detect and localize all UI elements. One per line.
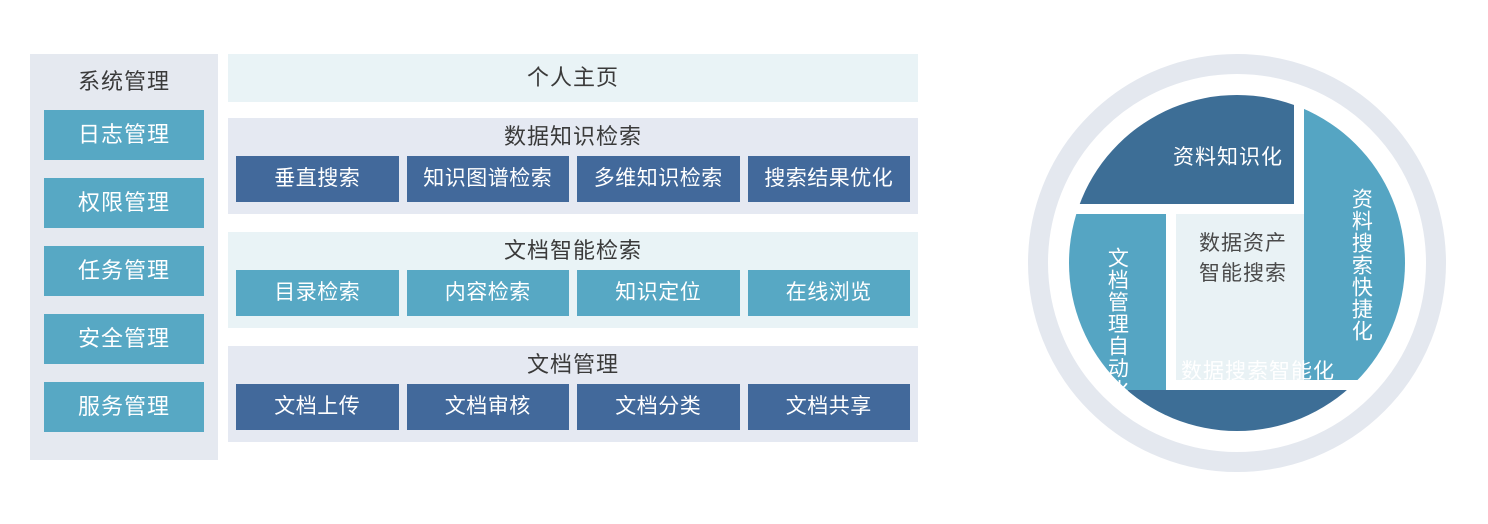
- sidebar-item-permission-management[interactable]: 权限管理: [44, 178, 204, 228]
- sidebar-item-task-management[interactable]: 任务管理: [44, 246, 204, 296]
- segment-top[interactable]: [1064, 74, 1294, 204]
- circular-architecture-diagram: 资料知识化 资料搜索快捷化 文档管理自动化 数据搜索智能化 数据资产 智能搜索: [1028, 54, 1446, 472]
- panel-title-data-knowledge-retrieval: 数据知识检索: [228, 118, 918, 156]
- button-content-search[interactable]: 内容检索: [407, 270, 570, 316]
- panel-button-row-data-knowledge-retrieval: 垂直搜索 知识图谱检索 多维知识检索 搜索结果优化: [228, 156, 918, 212]
- sidebar: 系统管理 日志管理 权限管理 任务管理 安全管理 服务管理: [30, 54, 218, 460]
- panel-title-personal-homepage: 个人主页: [228, 54, 918, 102]
- sidebar-item-log-management[interactable]: 日志管理: [44, 110, 204, 160]
- button-multidimensional-knowledge-search[interactable]: 多维知识检索: [577, 156, 740, 202]
- sidebar-item-security-management[interactable]: 安全管理: [44, 314, 204, 364]
- button-knowledge-graph-search[interactable]: 知识图谱检索: [407, 156, 570, 202]
- panel-data-knowledge-retrieval: 数据知识检索 垂直搜索 知识图谱检索 多维知识检索 搜索结果优化: [228, 118, 918, 214]
- button-knowledge-location[interactable]: 知识定位: [577, 270, 740, 316]
- sidebar-title: 系统管理: [44, 54, 204, 110]
- panel-button-row-document-intelligent-retrieval: 目录检索 内容检索 知识定位 在线浏览: [228, 270, 918, 326]
- button-document-share[interactable]: 文档共享: [748, 384, 911, 430]
- segment-right[interactable]: [1304, 80, 1420, 380]
- button-search-result-optimization[interactable]: 搜索结果优化: [748, 156, 911, 202]
- button-document-upload[interactable]: 文档上传: [236, 384, 399, 430]
- sidebar-item-service-management[interactable]: 服务管理: [44, 382, 204, 432]
- button-document-review[interactable]: 文档审核: [407, 384, 570, 430]
- button-document-classification[interactable]: 文档分类: [577, 384, 740, 430]
- panel-personal-homepage: 个人主页: [228, 54, 918, 102]
- panel-document-management: 文档管理 文档上传 文档审核 文档分类 文档共享: [228, 346, 918, 442]
- panel-button-row-document-management: 文档上传 文档审核 文档分类 文档共享: [228, 384, 918, 440]
- panel-title-document-intelligent-retrieval: 文档智能检索: [228, 232, 918, 270]
- button-vertical-search[interactable]: 垂直搜索: [236, 156, 399, 202]
- button-online-browse[interactable]: 在线浏览: [748, 270, 911, 316]
- button-catalog-search[interactable]: 目录检索: [236, 270, 399, 316]
- segment-center[interactable]: [1176, 214, 1304, 380]
- panel-title-document-management: 文档管理: [228, 346, 918, 384]
- circle-diagram-graphic: [1028, 54, 1446, 472]
- panel-document-intelligent-retrieval: 文档智能检索 目录检索 内容检索 知识定位 在线浏览: [228, 232, 918, 328]
